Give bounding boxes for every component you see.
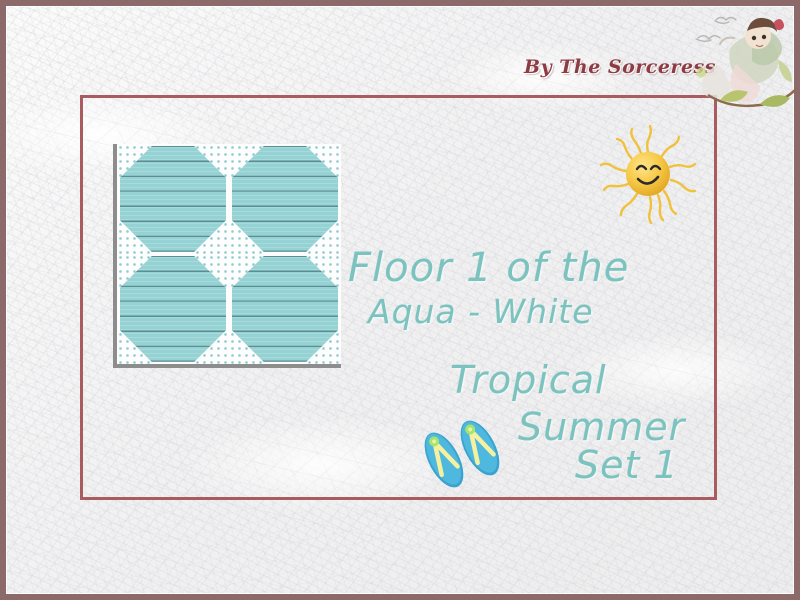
floor-tile-preview xyxy=(113,144,341,368)
flip-flops-icon xyxy=(404,404,516,500)
tile-preview-image xyxy=(117,144,341,364)
headline-line-3: Tropical xyxy=(450,358,607,402)
headline-line-5: Set 1 xyxy=(575,443,679,487)
smiling-sun-icon xyxy=(596,122,700,226)
tile-cell xyxy=(229,254,341,364)
headline-line-1: Floor 1 of the xyxy=(348,245,629,291)
headline-line-2: Aqua - White xyxy=(368,292,594,331)
tile-cell xyxy=(229,144,341,254)
tile-cell xyxy=(117,144,229,254)
tile-cell xyxy=(117,254,229,364)
poster-canvas: By The Sorceress xyxy=(0,0,800,600)
fairy-illustration xyxy=(690,0,800,125)
